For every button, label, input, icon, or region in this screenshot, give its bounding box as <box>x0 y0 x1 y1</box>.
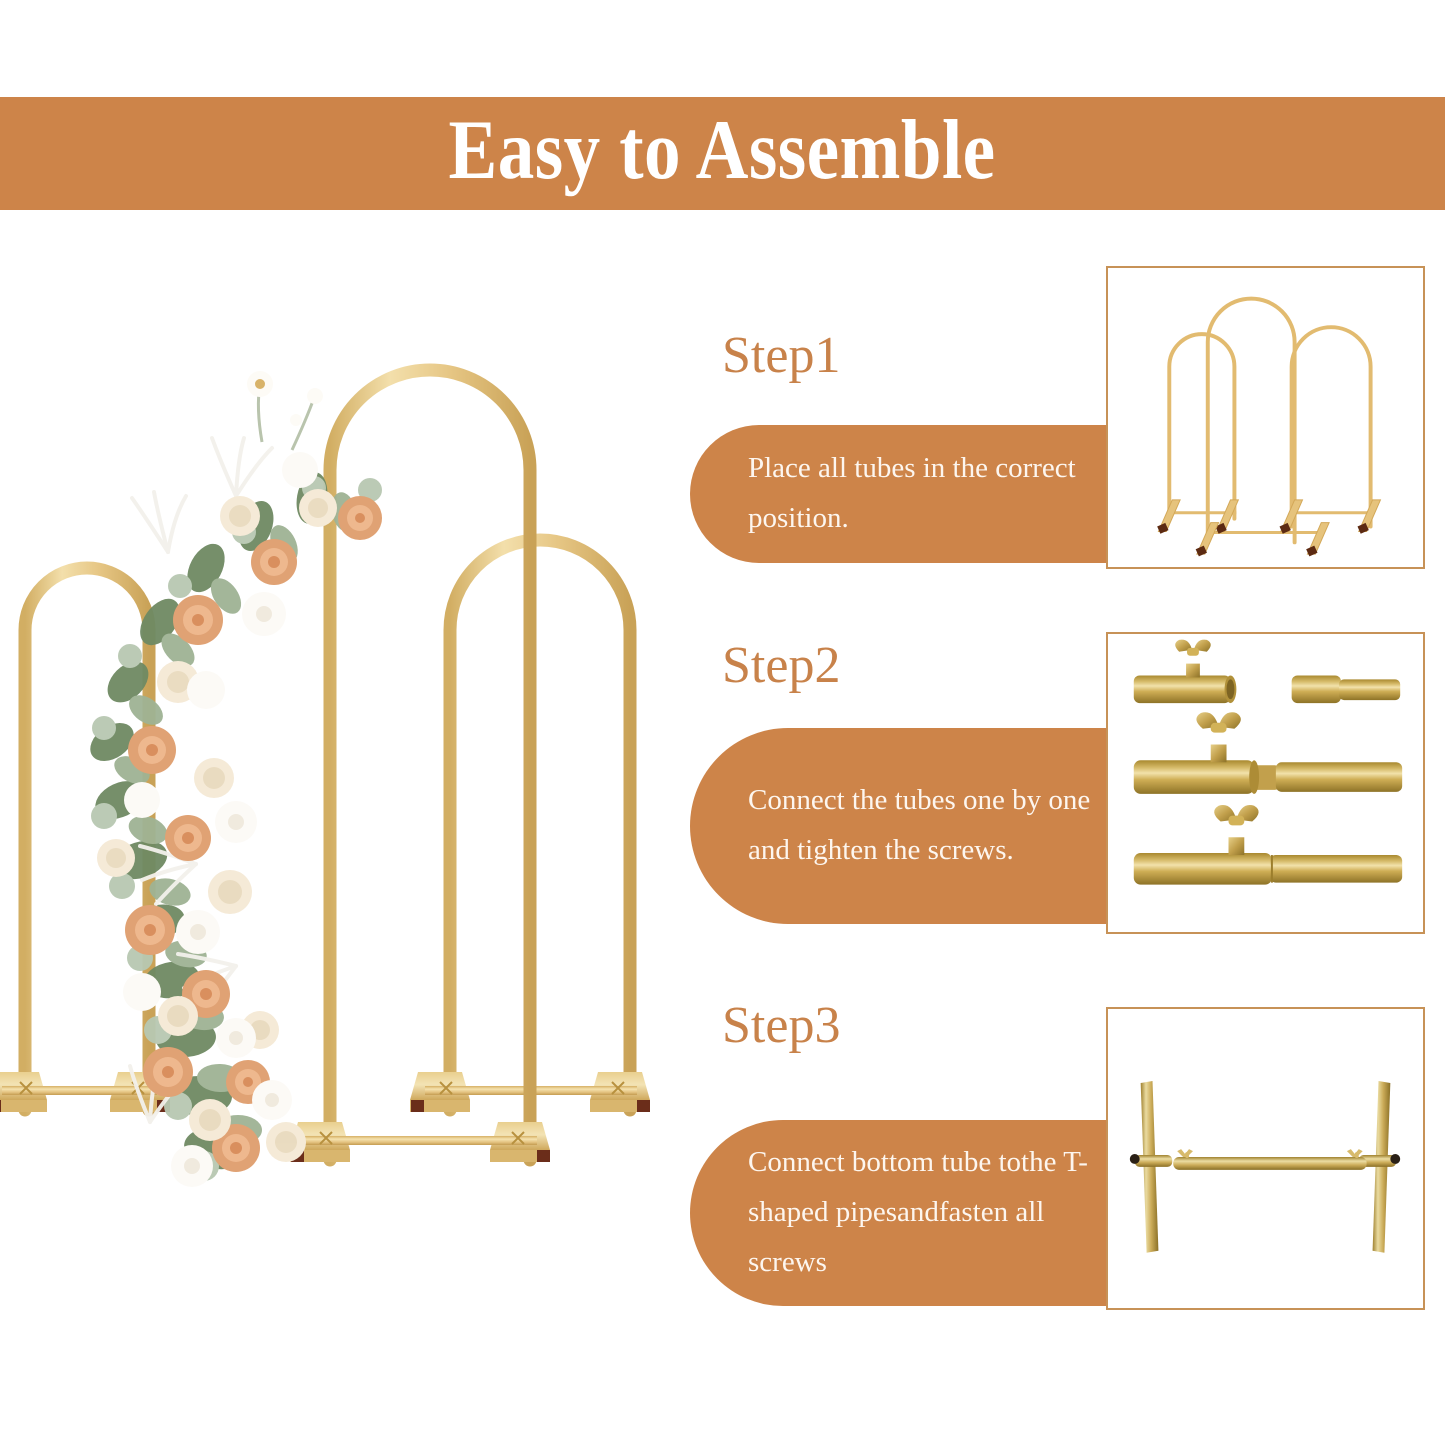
step-1-label: Step1 <box>722 330 840 382</box>
step-3-instruction-pill: Connect bottom tube tothe T-shaped pipes… <box>690 1120 1112 1306</box>
step-2-instruction-text: Connect the tubes one by one and tighten… <box>690 776 1112 876</box>
step-2-figure: Gold tubes joined end to end and secured… <box>1106 632 1425 934</box>
step-3-figure: Horizontal bottom tube attached between … <box>1106 1007 1425 1310</box>
tube-row-3 <box>1134 805 1402 885</box>
step-1-instruction-text: Place all tubes in the correct position. <box>690 444 1112 544</box>
tube-row-1 <box>1134 640 1400 703</box>
daisy-sprigs <box>247 371 323 450</box>
left-t-pipe <box>1130 1081 1172 1253</box>
header-banner: Easy to Assemble <box>0 97 1445 210</box>
step-2-instruction-pill: Connect the tubes one by one and tighten… <box>690 728 1112 924</box>
step-3-instruction-text: Connect bottom tube tothe T-shaped pipes… <box>690 1138 1112 1288</box>
arch-tall-center <box>290 370 550 1162</box>
bottom-tube <box>1173 1149 1366 1170</box>
step-1-instruction-pill: Place all tubes in the correct position. <box>690 425 1112 563</box>
page-title: Easy to Assemble <box>449 108 996 199</box>
step-3-label: Step3 <box>722 1000 840 1052</box>
floral-garland <box>83 371 382 1187</box>
tube-row-2 <box>1134 712 1402 794</box>
step-2-label: Step2 <box>722 640 840 692</box>
step-1-figure: Three gold arch frames of different heig… <box>1106 266 1425 569</box>
product-photo <box>0 330 690 1230</box>
